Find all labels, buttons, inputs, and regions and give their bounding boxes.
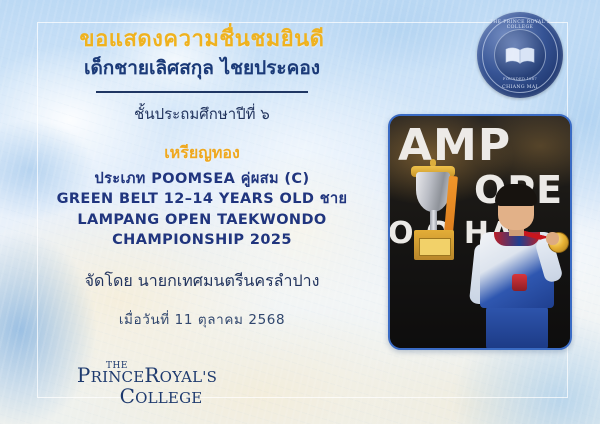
seal-founded-text: FOUNDED 1887: [477, 77, 563, 81]
event-date: เมื่อวันที่ 11 ตุลาคม 2568: [28, 308, 376, 330]
athlete-hand: [546, 232, 559, 245]
grade-level: ชั้นประถมศึกษาปีที่ ๖: [28, 102, 376, 126]
recipient-name: เด็กชายเลิศสกุล ไชยประคอง: [28, 56, 376, 81]
text-column: ขอแสดงความชื่นชมยินดี เด็กชายเลิศสกุล ไช…: [28, 26, 376, 330]
athlete-hair: [495, 184, 537, 206]
seal-arc-bottom-text: CHIANG MAI: [477, 85, 563, 90]
headline-congratulations: ขอแสดงความชื่นชมยินดี: [28, 26, 376, 54]
event-detail-line: ประเภท POOMSEA คู่ผสม (C): [28, 169, 376, 190]
wordmark-ollege: OLLEGE: [135, 389, 202, 407]
trophy-plaque: [419, 238, 451, 256]
wordmark-line-2: COLLEGE: [66, 386, 256, 406]
school-wordmark-logo: THE PRINCEROYAL'S COLLEGE: [52, 358, 242, 406]
event-detail-line: CHAMPIONSHIP 2025: [28, 230, 376, 251]
divider-rule: [96, 91, 308, 93]
athlete-figure: [468, 188, 572, 348]
open-book-icon: [505, 46, 535, 65]
organizer-line: จัดโดย นายกเทศมนตรีนครลำปาง: [28, 269, 376, 294]
event-detail-line: GREEN BELT 12–14 YEARS OLD ชาย: [28, 189, 376, 210]
trophy-cup: [416, 172, 450, 212]
congratulation-poster: THE PRINCE ROYAL'S COLLEGE FOUNDED 1887 …: [0, 0, 600, 424]
college-seal-icon: THE PRINCE ROYAL'S COLLEGE FOUNDED 1887 …: [477, 12, 563, 98]
wordmark-c: C: [120, 384, 136, 408]
athlete-legs: [486, 306, 548, 350]
wordmark-the: THE: [22, 362, 212, 371]
medal-award-label: เหรียญทอง: [28, 141, 376, 166]
event-detail-line: LAMPANG OPEN TAEKWONDO: [28, 210, 376, 231]
uniform-patch: [512, 274, 527, 291]
athlete-photo: AMP OPE O O HA ม ( ม?: [388, 114, 572, 350]
trophy-graphic: [406, 158, 462, 288]
event-detail-list: ประเภท POOMSEA คู่ผสม (C) GREEN BELT 12–…: [28, 169, 376, 251]
trophy-stem: [430, 210, 437, 232]
